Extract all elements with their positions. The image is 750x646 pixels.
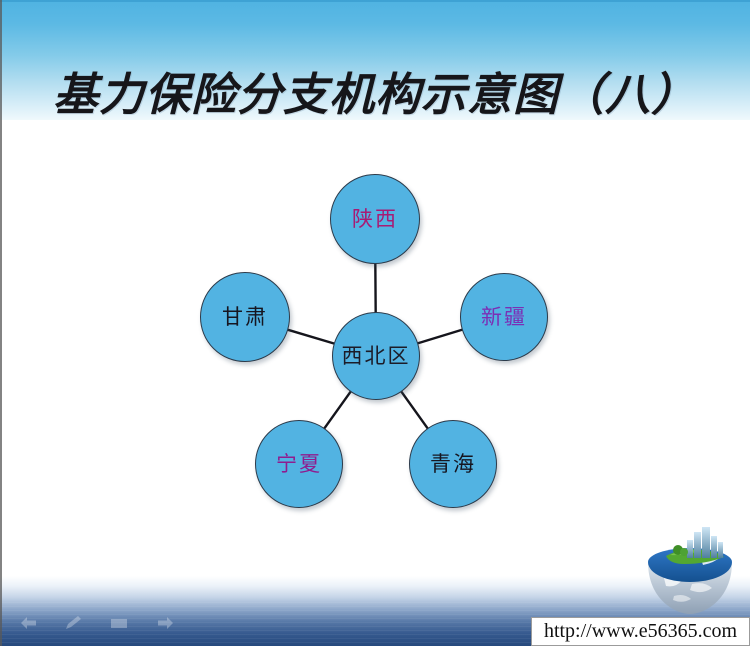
diagram-node-xinjiang[interactable]: 新疆 — [460, 273, 548, 361]
node-label: 西北区 — [342, 346, 411, 367]
watermark-url-text: http://www.e56365.com — [544, 620, 737, 643]
diagram-node-shaanxi[interactable]: 陕西 — [330, 174, 420, 264]
org-structure-diagram: 西北区陕西新疆青海宁夏甘肃 — [0, 0, 750, 646]
diagram-node-gansu[interactable]: 甘肃 — [200, 272, 290, 362]
diagram-node-qinghai[interactable]: 青海 — [409, 420, 497, 508]
globe-city-logo — [640, 526, 740, 618]
slide-canvas: 基力保险分支机构示意图（八） 西北区陕西新疆青海宁夏甘肃 — [0, 0, 750, 646]
diagram-edge-xinjiang — [417, 330, 463, 344]
diagram-edge-gansu — [287, 330, 335, 344]
node-label: 陕西 — [352, 209, 398, 230]
watermark-url-box[interactable]: http://www.e56365.com — [531, 617, 750, 646]
node-label: 宁夏 — [276, 454, 322, 475]
diagram-edge-qinghai — [401, 391, 428, 429]
diagram-node-center[interactable]: 西北区 — [332, 312, 420, 400]
diagram-edge-ningxia — [324, 391, 351, 429]
node-label: 新疆 — [481, 307, 527, 328]
node-label: 甘肃 — [222, 307, 268, 328]
diagram-node-ningxia[interactable]: 宁夏 — [255, 420, 343, 508]
node-label: 青海 — [430, 454, 476, 475]
